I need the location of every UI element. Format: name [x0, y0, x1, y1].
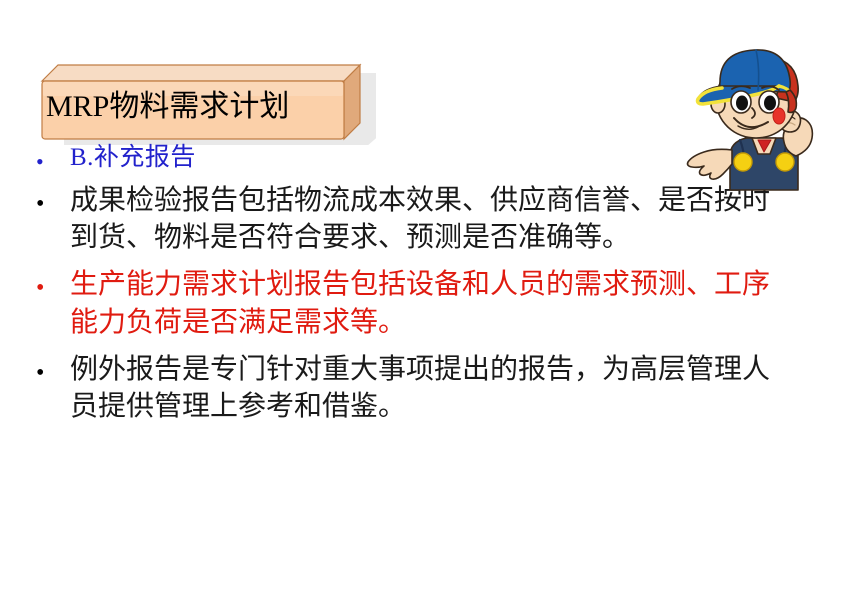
bullet-marker-icon: •	[36, 351, 70, 385]
overall-button-right	[776, 153, 794, 171]
bullet-text: 例外报告是专门针对重大事项提出的报告，为高层管理人员提供管理上参考和借鉴。	[70, 351, 770, 425]
slide-canvas: MRP物料需求计划 • B.补充报告 • 成果检验报告包括物流成本效果、供应商信…	[0, 0, 847, 606]
bullet-marker-icon: •	[36, 266, 70, 300]
overall-button-left	[734, 153, 752, 171]
page-title: MRP物料需求计划	[46, 79, 356, 135]
list-item[interactable]: • 例外报告是专门针对重大事项提出的报告，为高层管理人员提供管理上参考和借鉴。	[36, 351, 796, 425]
cheek-blush	[773, 108, 785, 124]
spacer	[36, 341, 796, 351]
bullet-marker-icon: •	[36, 182, 70, 216]
bullet-marker-icon: •	[36, 142, 70, 173]
bullet-text: 生产能力需求计划报告包括设备和人员的需求预测、工序能力负荷是否满足需求等。	[70, 266, 785, 340]
spacer	[36, 256, 796, 266]
bullet-text: 成果检验报告包括物流成本效果、供应商信誉、是否按时到货、物料是否符合要求、预测是…	[70, 182, 770, 256]
left-hand	[688, 149, 733, 179]
pupil-left	[736, 96, 748, 111]
cartoon-boy-icon	[678, 38, 838, 193]
list-item[interactable]: • 生产能力需求计划报告包括设备和人员的需求预测、工序能力负荷是否满足需求等。	[36, 266, 796, 340]
list-item[interactable]: • 成果检验报告包括物流成本效果、供应商信誉、是否按时到货、物料是否符合要求、预…	[36, 182, 796, 256]
title-box: MRP物料需求计划	[30, 57, 376, 145]
cartoon-boy-illustration	[678, 38, 838, 193]
pupil-right	[764, 96, 776, 111]
